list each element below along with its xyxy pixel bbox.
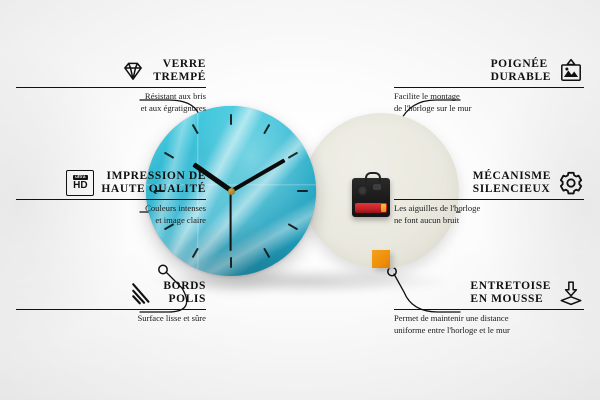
- feature-heading: ENTRETOISE EN MOUSSE: [394, 280, 584, 306]
- foam-spacer-arrow-icon: [558, 280, 584, 306]
- feature-title: VERRE TREMPÉ: [153, 58, 206, 84]
- foam-spacer-square: [372, 250, 390, 268]
- feature-entretoise-en-mousse: ENTRETOISE EN MOUSSE Permet de maintenir…: [394, 280, 584, 337]
- infographic-canvas: VERRE TREMPÉ Résistant aux bris et aux é…: [0, 0, 600, 400]
- feature-title: MÉCANISME SILENCIEUX: [473, 170, 551, 196]
- feature-impression-haute-qualite: ultra HD IMPRESSION DE HAUTE QUALITÉ Cou…: [16, 170, 206, 227]
- hour-marker: [230, 114, 232, 125]
- gear-icon: [558, 170, 584, 196]
- feature-description: Facilite le montage de l'horloge sur le …: [394, 91, 584, 114]
- hour-marker: [230, 257, 232, 268]
- feature-poignee-durable: POIGNÉE DURABLE Facilite le montage de l…: [394, 58, 584, 115]
- feature-bords-polis: BORDS POLIS Surface lisse et sûre: [16, 280, 206, 325]
- feature-description: Les aiguilles de l'horloge ne font aucun…: [394, 203, 584, 226]
- feature-heading: VERRE TREMPÉ: [16, 58, 206, 84]
- feature-heading: ultra HD IMPRESSION DE HAUTE QUALITÉ: [16, 170, 206, 196]
- clock-mechanism-box: [352, 178, 390, 217]
- feature-mecanisme-silencieux: MÉCANISME SILENCIEUX Les aiguilles de l'…: [394, 170, 584, 227]
- feature-description: Surface lisse et sûre: [16, 313, 206, 325]
- mechanism-dial: [357, 185, 368, 196]
- feature-description: Permet de maintenir une distance uniform…: [394, 313, 584, 336]
- feature-title: ENTRETOISE EN MOUSSE: [470, 280, 551, 306]
- feature-heading: MÉCANISME SILENCIEUX: [394, 170, 584, 196]
- feature-heading: POIGNÉE DURABLE: [394, 58, 584, 84]
- hanger-loop-icon: [365, 172, 381, 183]
- battery: [355, 203, 387, 213]
- feature-title: POIGNÉE DURABLE: [491, 58, 551, 84]
- ultra-hd-icon: ultra HD: [66, 170, 94, 196]
- feature-title: IMPRESSION DE HAUTE QUALITÉ: [101, 170, 206, 196]
- feature-verre-trempe: VERRE TREMPÉ Résistant aux bris et aux é…: [16, 58, 206, 115]
- hand-center-cap: [228, 188, 235, 195]
- hour-marker: [297, 190, 308, 192]
- feature-description: Couleurs intenses et image claire: [16, 203, 206, 226]
- feature-rule: [394, 309, 584, 310]
- feature-description: Résistant aux bris et aux égratignures: [16, 91, 206, 114]
- feature-rule: [394, 199, 584, 200]
- second-hand: [230, 191, 232, 251]
- feature-rule: [16, 87, 206, 88]
- hanging-frame-icon: [558, 58, 584, 84]
- feature-heading: BORDS POLIS: [16, 280, 206, 306]
- mechanism-switch: [373, 184, 381, 190]
- feature-rule: [394, 87, 584, 88]
- diamond-icon: [120, 58, 146, 84]
- feature-rule: [16, 309, 206, 310]
- feature-title: BORDS POLIS: [163, 280, 206, 306]
- feature-rule: [16, 199, 206, 200]
- ultra-hd-icon-big-label: HD: [73, 181, 87, 191]
- diagonal-lines-icon: [130, 280, 156, 306]
